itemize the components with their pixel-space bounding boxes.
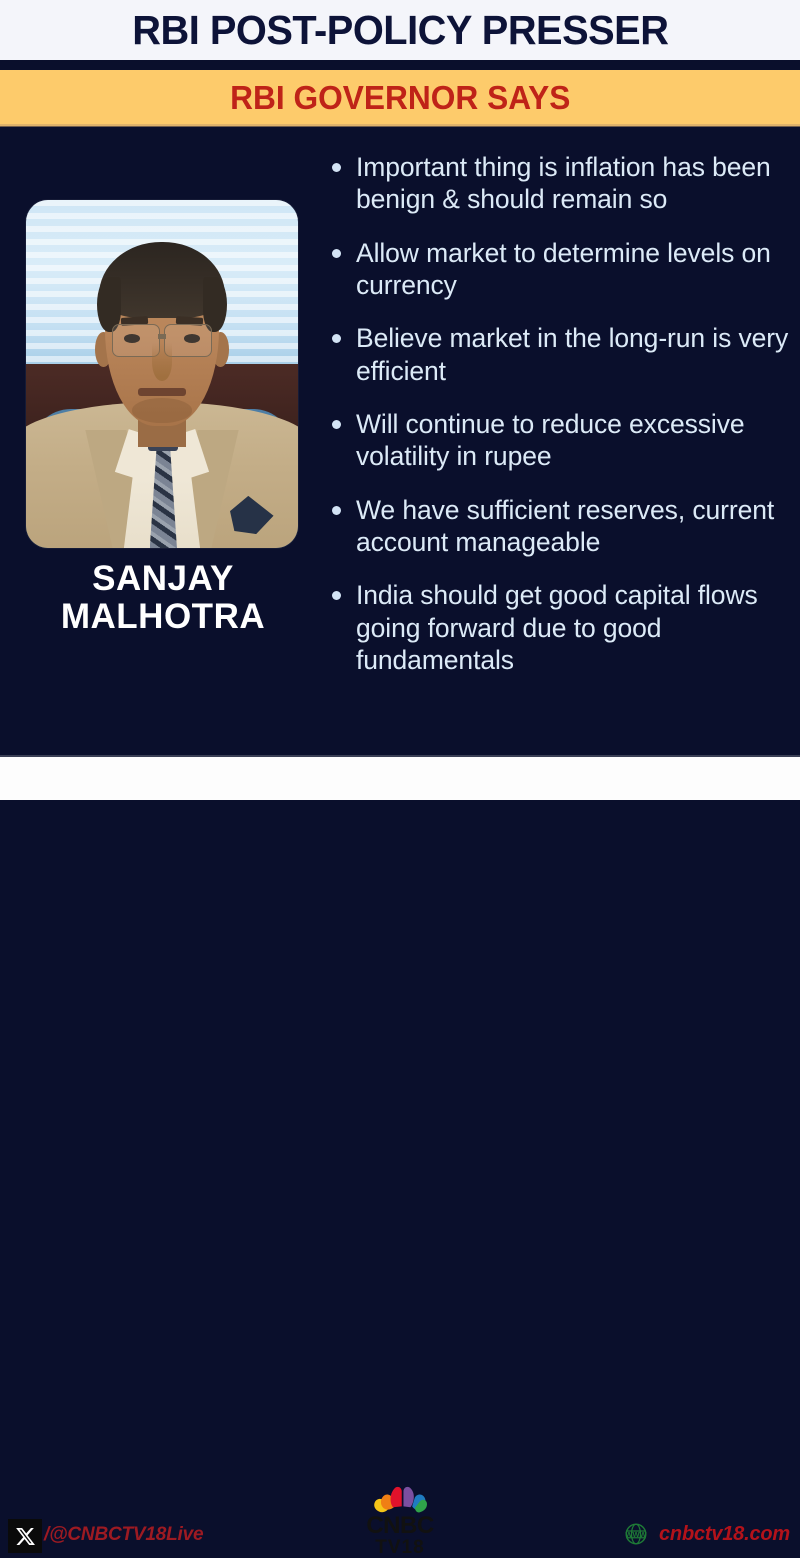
quote-text: We have sufficient reserves, current acc… bbox=[356, 494, 796, 559]
peacock-icon bbox=[368, 1483, 432, 1514]
person-name-line2: MALHOTRA bbox=[0, 598, 326, 636]
quote-text: Allow market to determine levels on curr… bbox=[356, 237, 796, 302]
bullet-dot-icon bbox=[332, 249, 341, 258]
quote-text: Will continue to reduce excessive volati… bbox=[356, 408, 796, 473]
page-subtitle: RBI GOVERNOR SAYS bbox=[230, 79, 570, 117]
x-twitter-icon[interactable] bbox=[8, 1519, 42, 1553]
person-name: SANJAY MALHOTRA bbox=[0, 560, 326, 636]
list-item: Allow market to determine levels on curr… bbox=[326, 237, 796, 302]
svg-text:WWW: WWW bbox=[625, 1530, 647, 1539]
website-url[interactable]: cnbctv18.com bbox=[659, 1523, 790, 1546]
person-name-line1: SANJAY bbox=[0, 560, 326, 598]
cnbc-tv18-logo: CNBC TV18 bbox=[352, 1483, 448, 1557]
content-area: SANJAY MALHOTRA Important thing is infla… bbox=[0, 127, 800, 757]
list-item: Will continue to reduce excessive volati… bbox=[326, 408, 796, 473]
list-item: We have sufficient reserves, current acc… bbox=[326, 494, 796, 559]
bullet-dot-icon bbox=[332, 506, 341, 515]
list-item: Important thing is inflation has been be… bbox=[326, 151, 796, 216]
list-item: India should get good capital flows goin… bbox=[326, 579, 796, 676]
brand-name: CNBC bbox=[366, 1515, 433, 1538]
bullet-dot-icon bbox=[332, 420, 341, 429]
news-graphic-card: RBI POST-POLICY PRESSER RBI GOVERNOR SAY… bbox=[0, 0, 800, 800]
quote-text: Believe market in the long-run is very e… bbox=[356, 322, 796, 387]
social-handle[interactable]: /@CNBCTV18Live bbox=[44, 1524, 203, 1546]
headline-band: RBI POST-POLICY PRESSER bbox=[0, 0, 800, 60]
subheadline-band: RBI GOVERNOR SAYS bbox=[0, 70, 800, 126]
bullet-dot-icon bbox=[332, 163, 341, 172]
person-photo bbox=[26, 200, 298, 548]
www-globe-icon: WWW bbox=[624, 1522, 648, 1546]
list-item: Believe market in the long-run is very e… bbox=[326, 322, 796, 387]
quote-text: India should get good capital flows goin… bbox=[356, 579, 796, 676]
quote-list: Important thing is inflation has been be… bbox=[326, 151, 796, 697]
quote-text: Important thing is inflation has been be… bbox=[356, 151, 796, 216]
bullet-dot-icon bbox=[332, 591, 341, 600]
footer-bar: /@CNBCTV18Live CNBC TV18 WWW c bbox=[0, 757, 800, 800]
bullet-dot-icon bbox=[332, 334, 341, 343]
brand-channel: TV18 bbox=[375, 1538, 424, 1557]
page-title: RBI POST-POLICY PRESSER bbox=[132, 7, 668, 54]
header-divider bbox=[0, 60, 800, 70]
